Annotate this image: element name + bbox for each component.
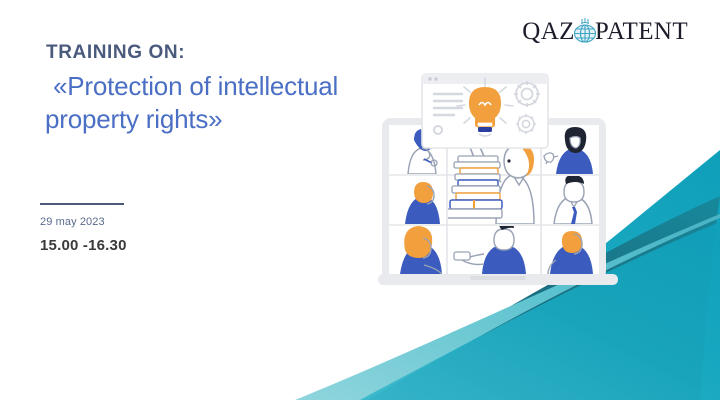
presentation-slide: QAZ PATENT TRAINING ON: «Protection of i… — [0, 0, 720, 400]
headline-line-1: «Protection of intellectual — [45, 70, 405, 103]
idea-popup-window — [422, 74, 548, 148]
logo-text-left: QAZ — [522, 19, 575, 44]
kicker-label: TRAINING ON: — [46, 42, 185, 64]
logo-text-right: PATENT — [595, 19, 688, 44]
qazpatent-logo: QAZ PATENT — [522, 16, 688, 46]
event-time: 15.00 -16.30 — [40, 237, 127, 254]
event-date: 29 may 2023 — [40, 216, 105, 228]
headline-line-2: property rights» — [45, 103, 405, 136]
globe-emblem-icon — [572, 17, 598, 45]
books-stack — [446, 156, 502, 218]
divider — [40, 203, 124, 205]
online-training-illustration — [378, 60, 668, 290]
page-title: «Protection of intellectual property rig… — [45, 70, 405, 137]
